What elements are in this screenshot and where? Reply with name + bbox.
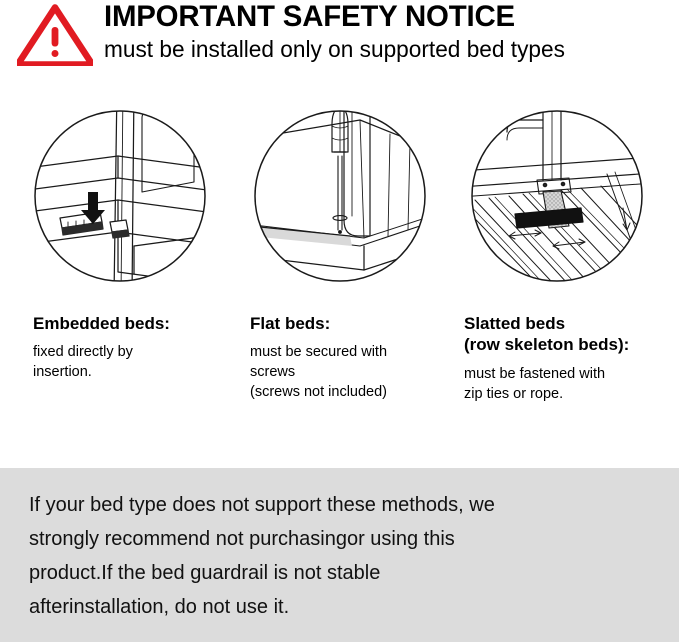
bottom-warning-text: If your bed type does not support these … bbox=[29, 488, 659, 624]
illustration-row bbox=[0, 96, 679, 296]
caption-body: must be secured with screws (screws not … bbox=[250, 342, 455, 402]
embedded-bed-illustration bbox=[22, 96, 222, 296]
caption-embedded-beds: Embedded beds: fixed directly by inserti… bbox=[33, 313, 238, 382]
page-title: IMPORTANT SAFETY NOTICE bbox=[104, 0, 668, 34]
caption-title: Flat beds: bbox=[250, 313, 455, 334]
page-subtitle: must be installed only on supported bed … bbox=[104, 34, 670, 64]
bottom-warning-panel: If your bed type does not support these … bbox=[0, 468, 679, 642]
caption-row: Embedded beds: fixed directly by inserti… bbox=[0, 313, 679, 433]
caption-slatted-beds: Slatted beds (row skeleton beds): must b… bbox=[464, 313, 674, 404]
flat-bed-illustration bbox=[240, 96, 440, 296]
caption-body: fixed directly by insertion. bbox=[33, 342, 238, 382]
caption-title: Embedded beds: bbox=[33, 313, 238, 334]
caption-title: Slatted beds (row skeleton beds): bbox=[464, 313, 674, 355]
caption-body: must be fastened with zip ties or rope. bbox=[464, 364, 674, 404]
safety-notice-header: IMPORTANT SAFETY NOTICE must be installe… bbox=[0, 0, 679, 78]
warning-triangle-icon bbox=[17, 4, 93, 66]
caption-flat-beds: Flat beds: must be secured with screws (… bbox=[250, 313, 455, 402]
header-text-block: IMPORTANT SAFETY NOTICE must be installe… bbox=[104, 0, 679, 64]
slatted-bed-illustration bbox=[457, 96, 657, 296]
